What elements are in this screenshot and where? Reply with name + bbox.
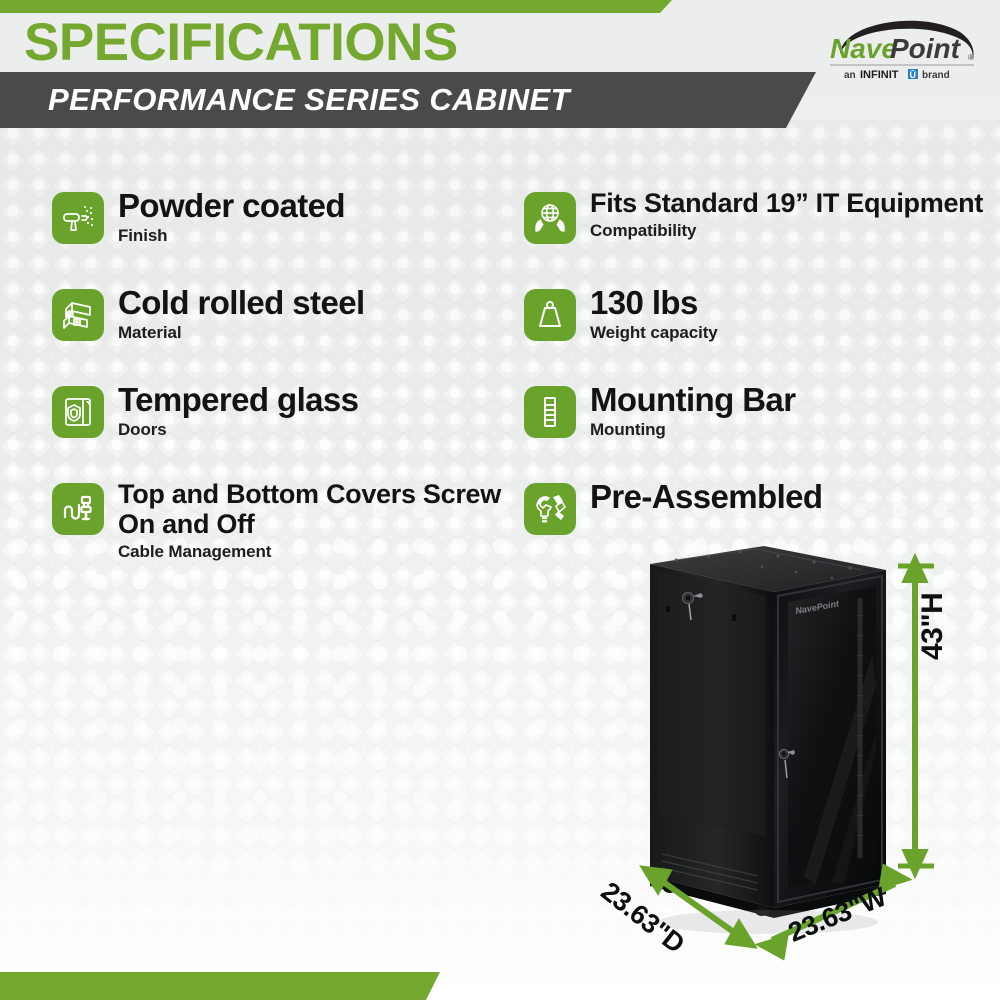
bottom-green-bar <box>0 972 440 1000</box>
dimension-arrows <box>0 0 1000 1000</box>
specifications-infographic: SPECIFICATIONS PERFORMANCE SERIES CABINE… <box>0 0 1000 1000</box>
dimension-height-label: 43"H <box>916 593 950 660</box>
